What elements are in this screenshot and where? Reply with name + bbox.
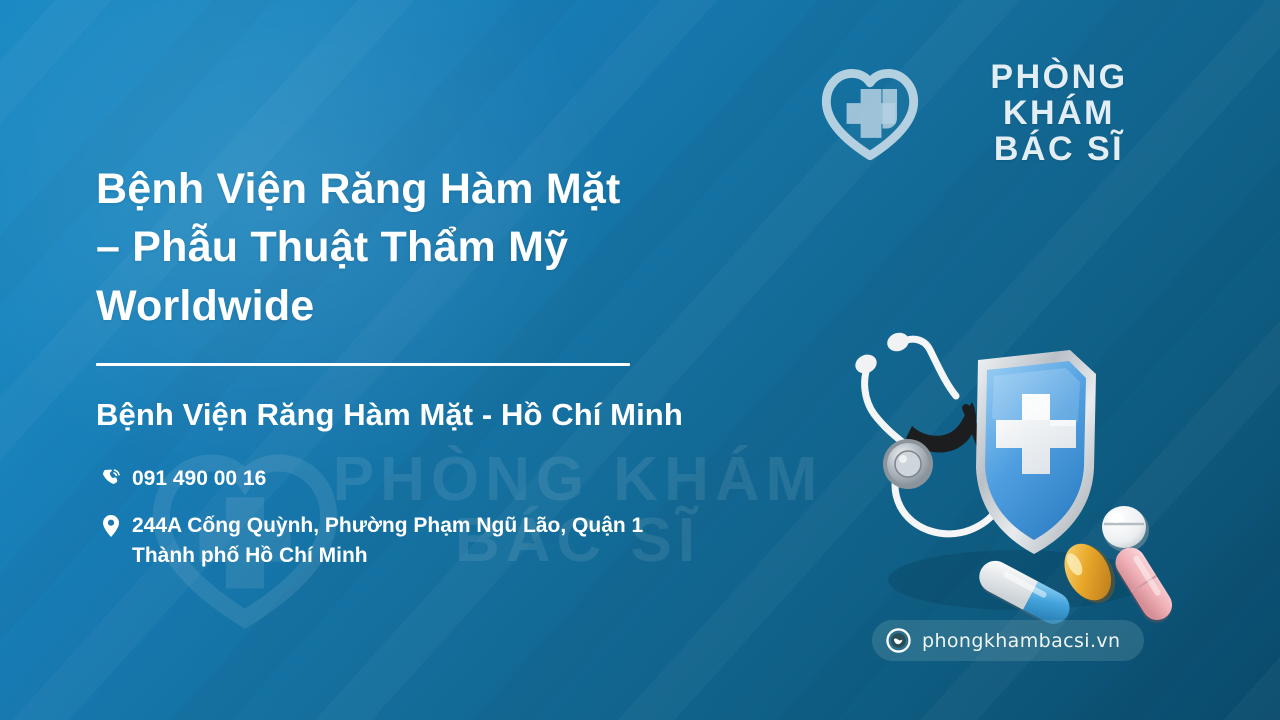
phone-icon <box>96 464 126 489</box>
heart-cross-icon <box>818 62 922 166</box>
shield-with-cross-icon <box>976 350 1096 554</box>
brand-logo: PHÒNG KHÁM BÁC SĨ <box>818 58 1182 170</box>
location-pin-icon <box>96 511 126 538</box>
website-url: phongkhambacsi.vn <box>922 630 1120 652</box>
page-title-line-3: Worldwide <box>96 277 856 335</box>
page-title: Bệnh Viện Răng Hàm Mặt – Phẫu Thuật Thẩm… <box>96 160 856 335</box>
brand-logo-line-2: BÁC SĨ <box>936 132 1182 168</box>
medical-illustration <box>838 318 1178 628</box>
globe-icon <box>886 628 911 653</box>
phone-number: 091 490 00 16 <box>126 464 266 494</box>
address-text: 244A Cống Quỳnh, Phường Phạm Ngũ Lão, Qu… <box>126 511 643 571</box>
address-line-2: Thành phố Hồ Chí Minh <box>132 544 368 567</box>
divider <box>96 363 630 366</box>
address-line-1: 244A Cống Quỳnh, Phường Phạm Ngũ Lão, Qu… <box>132 514 643 537</box>
pill-white-tablet-icon <box>1102 506 1149 552</box>
website-badge[interactable]: phongkhambacsi.vn <box>872 620 1144 661</box>
clinic-banner: PHÒNG KHÁM BÁC SĨ PHÒNG KHÁM BÁC SĨ Bệnh… <box>0 0 1280 720</box>
page-title-line-2: – Phẫu Thuật Thẩm Mỹ <box>96 218 856 276</box>
contact-phone-row[interactable]: 091 490 00 16 <box>96 464 856 494</box>
brand-logo-text: PHÒNG KHÁM BÁC SĨ <box>936 60 1182 167</box>
hero-content: Bệnh Viện Răng Hàm Mặt – Phẫu Thuật Thẩm… <box>96 160 856 571</box>
brand-logo-line-1: PHÒNG KHÁM <box>936 60 1182 131</box>
page-title-line-1: Bệnh Viện Răng Hàm Mặt <box>96 160 856 218</box>
contact-address-row[interactable]: 244A Cống Quỳnh, Phường Phạm Ngũ Lão, Qu… <box>96 511 856 571</box>
contact-info: 091 490 00 16 244A Cống Quỳnh, Phường Ph… <box>96 464 856 571</box>
page-subtitle: Bệnh Viện Răng Hàm Mặt - Hồ Chí Minh <box>96 396 856 433</box>
